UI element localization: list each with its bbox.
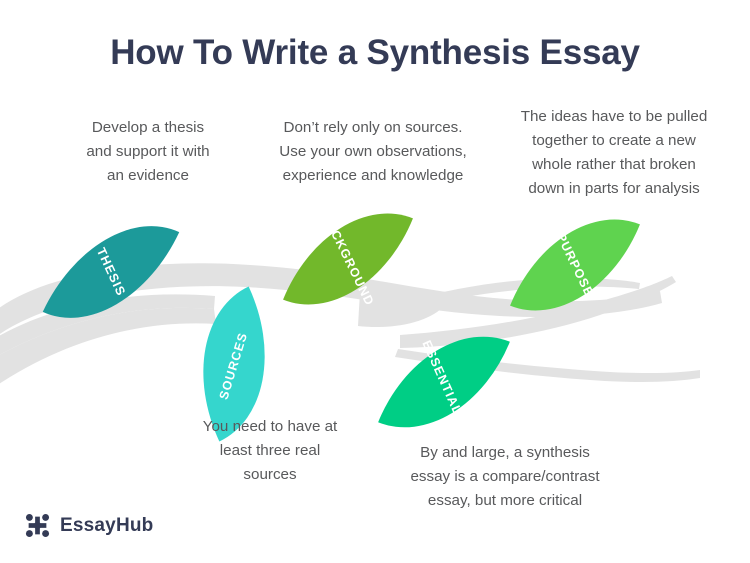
infographic-canvas: How To Write a Synthesis Essay THESIS SO… xyxy=(0,0,750,563)
leaf-background-label-text: BACKGROUND xyxy=(319,210,377,308)
caption-thesis-line-2: and support it with xyxy=(43,140,253,164)
caption-background-line-2: Use your own observations, xyxy=(250,140,496,164)
caption-purpose-line-3: whole rather that broken xyxy=(498,153,730,177)
leaf-sources-label-text: SOURCES xyxy=(217,331,251,402)
caption-thesis-line-1: Develop a thesis xyxy=(43,116,253,140)
leaf-thesis-label-text: THESIS xyxy=(94,246,129,299)
caption-purpose-line-1: The ideas have to be pulled xyxy=(498,105,730,129)
caption-essentials: By and large, a synthesis essay is a com… xyxy=(380,441,630,513)
caption-background-line-3: experience and knowledge xyxy=(250,164,496,188)
caption-background-line-1: Don’t rely only on sources. xyxy=(250,116,496,140)
caption-sources-line-1: You need to have at xyxy=(160,415,380,439)
leaf-essentials-label-text: ESSENTIALS xyxy=(419,338,468,425)
leaf-purpose-label-text: PURPOSE xyxy=(554,231,597,299)
caption-thesis-line-3: an evidence xyxy=(43,164,253,188)
brand-name: EssayHub xyxy=(60,515,153,537)
caption-background: Don’t rely only on sources. Use your own… xyxy=(250,116,496,188)
caption-essentials-line-1: By and large, a synthesis xyxy=(380,441,630,465)
molecule-icon xyxy=(24,512,51,539)
caption-essentials-line-3: essay, but more critical xyxy=(380,489,630,513)
caption-purpose-line-2: together to create a new xyxy=(498,129,730,153)
caption-essentials-line-2: essay is a compare/contrast xyxy=(380,465,630,489)
caption-sources-line-3: sources xyxy=(160,463,380,487)
brand-logo[interactable]: EssayHub xyxy=(24,512,153,539)
caption-purpose-line-4: down in parts for analysis xyxy=(498,177,730,201)
caption-thesis: Develop a thesis and support it with an … xyxy=(43,116,253,188)
caption-purpose: The ideas have to be pulled together to … xyxy=(498,105,730,201)
caption-sources: You need to have at least three real sou… xyxy=(160,415,380,487)
caption-sources-line-2: least three real xyxy=(160,439,380,463)
